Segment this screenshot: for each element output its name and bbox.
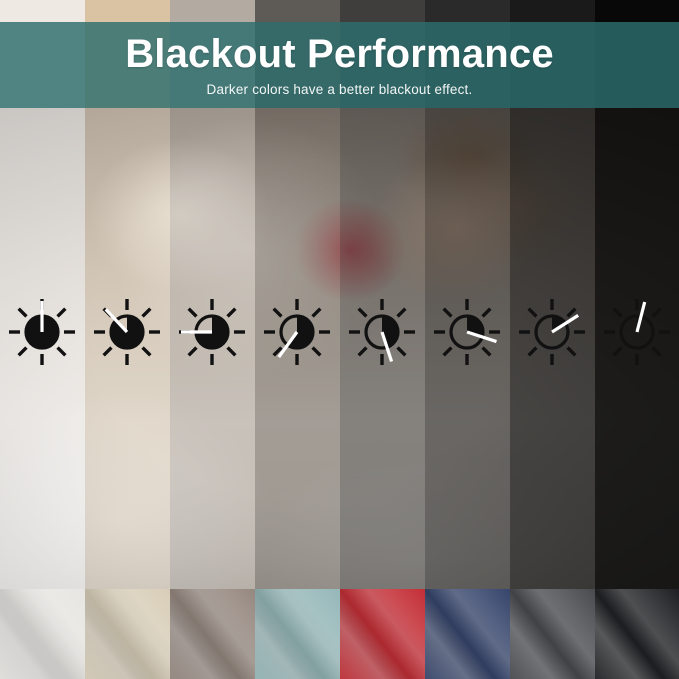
brightness-icon-level-5 <box>172 292 252 372</box>
fabric-sheen <box>425 589 510 679</box>
fabric-sheen <box>510 589 595 679</box>
fabric-sheen <box>0 589 85 679</box>
brightness-icon-full <box>2 292 82 372</box>
fabric-sheen <box>340 589 425 679</box>
brightness-icon-row <box>0 292 679 372</box>
brightness-icon-level-2 <box>427 292 507 372</box>
product-infographic: Blackout Performance Darker colors have … <box>0 0 679 679</box>
fabric-gray <box>510 589 595 679</box>
brightness-icon-empty <box>597 292 677 372</box>
title-banner: Blackout Performance Darker colors have … <box>0 22 679 108</box>
brightness-icon-level-3 <box>342 292 422 372</box>
brightness-icon-level-1 <box>512 292 592 372</box>
fabric-sheen <box>85 589 170 679</box>
fabric-navy <box>425 589 510 679</box>
fabric-sheen <box>595 589 679 679</box>
page-subtitle: Darker colors have a better blackout eff… <box>207 82 473 97</box>
fabric-white <box>0 589 85 679</box>
fabric-sample-strip <box>0 589 679 679</box>
fabric-sheen <box>255 589 340 679</box>
fabric-taupe <box>170 589 255 679</box>
fabric-red <box>340 589 425 679</box>
fabric-sheen <box>170 589 255 679</box>
fabric-cream <box>85 589 170 679</box>
brightness-icon-level-4 <box>257 292 337 372</box>
fabric-teal <box>255 589 340 679</box>
page-title: Blackout Performance <box>125 33 554 75</box>
brightness-icon-level-6 <box>87 292 167 372</box>
fabric-black <box>595 589 679 679</box>
